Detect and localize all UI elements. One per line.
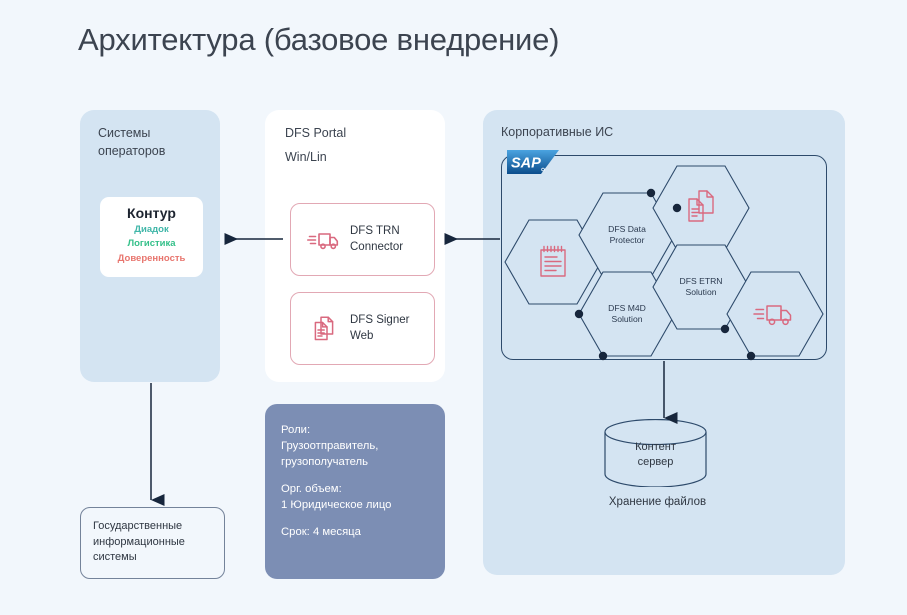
panel-title-line-1: Системы: [98, 126, 150, 140]
org-volume-line: Орг. объем:: [281, 481, 429, 497]
content-server-label: Контент сервер: [602, 440, 709, 470]
card-dfs-trn-connector-label: DFS TRN Connector: [350, 224, 403, 256]
gov-line: Государственные: [93, 519, 213, 535]
roles-group: Роли: Грузоотправитель, грузополучатель: [281, 422, 429, 470]
panel-corporate-is-title: Корпоративные ИС: [501, 123, 613, 141]
panel-operator-systems-title: Системы операторов: [98, 124, 208, 160]
page-title: Архитектура (базовое внедрение): [78, 22, 559, 58]
kontur-product-power-of-attorney: Доверенность: [100, 252, 203, 266]
kontur-card[interactable]: Контур Диадок Логистика Доверенность: [100, 197, 203, 277]
org-volume-line: 1 Юридическое лицо: [281, 497, 429, 513]
kontur-brand-label: Контур: [100, 204, 203, 223]
panel-dfs-portal-subtitle: Win/Lin: [285, 150, 327, 164]
org-volume-group: Орг. объем: 1 Юридическое лицо: [281, 481, 429, 513]
truck-icon: [307, 225, 341, 255]
sap-logo-text: SAP: [511, 156, 541, 172]
kontur-product-logistics: Логистика: [100, 237, 203, 251]
government-systems-box: Государственные информационные системы: [80, 507, 225, 579]
roles-line: Грузоотправитель,: [281, 438, 429, 454]
roles-info-box: Роли: Грузоотправитель, грузополучатель …: [265, 404, 445, 579]
card-dfs-trn-connector[interactable]: DFS TRN Connector: [290, 203, 435, 276]
cylinder-label-line-2: сервер: [638, 456, 674, 468]
gov-line: системы: [93, 550, 213, 566]
panel-dfs-portal-title: DFS Portal: [285, 124, 346, 142]
sap-system-box: [501, 155, 827, 360]
documents-icon: [307, 314, 341, 344]
panel-title-line-2: операторов: [98, 144, 165, 158]
file-storage-caption: Хранение файлов: [560, 496, 755, 508]
card-dfs-signer-web[interactable]: DFS Signer Web: [290, 292, 435, 365]
sap-logo: SAP: [507, 150, 559, 176]
kontur-product-diadoc: Диадок: [100, 223, 203, 237]
term-line: Срок: 4 месяца: [281, 524, 429, 540]
card-label-line-1: DFS TRN: [350, 225, 400, 237]
roles-line: грузополучатель: [281, 454, 429, 470]
card-label-line-2: Connector: [350, 241, 403, 253]
card-label-line-2: Web: [350, 330, 373, 342]
gov-line: информационные: [93, 535, 213, 551]
card-dfs-signer-web-label: DFS Signer Web: [350, 313, 409, 345]
term-group: Срок: 4 месяца: [281, 524, 429, 540]
roles-line: Роли:: [281, 422, 429, 438]
cylinder-label-line-1: Контент: [635, 441, 676, 453]
architecture-slide: Архитектура (базовое внедрение) Системы …: [0, 0, 907, 615]
card-label-line-1: DFS Signer: [350, 314, 409, 326]
